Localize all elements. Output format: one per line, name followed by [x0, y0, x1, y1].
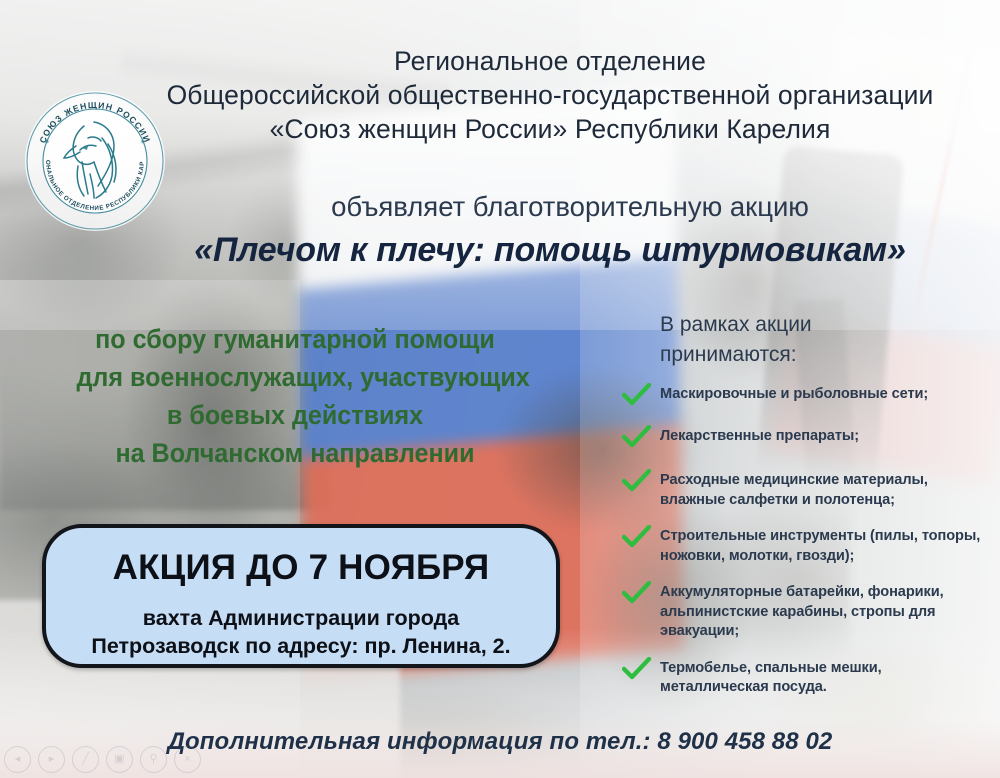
- accepted-heading-line-2: принимаются:: [660, 340, 980, 370]
- list-item-text: Строительные инструменты (пилы, топоры, …: [660, 527, 995, 566]
- list-item: Лекарственные препараты;: [620, 427, 995, 451]
- accepted-items-list: Маскировочные и рыболовные сети; Лекарст…: [620, 385, 995, 708]
- watermark-toolbar: ◂ ▸ ╱ ▣ ⚲ ×: [4, 746, 201, 773]
- search-icon: ⚲: [140, 746, 167, 773]
- check-icon: [620, 583, 660, 605]
- deadline-callout: АКЦИЯ ДО 7 НОЯБРЯ вахта Администрации го…: [42, 524, 560, 668]
- purpose-line-2: для военнослужащих, участвующих: [76, 358, 513, 396]
- header-line-1: Региональное отделение: [150, 44, 950, 78]
- accepted-heading-line-1: В рамках акции: [660, 310, 980, 340]
- list-item-line: альпинистские карабины, стропы для: [660, 603, 995, 623]
- check-icon: [620, 659, 660, 681]
- svg-text:✷: ✷: [44, 138, 50, 146]
- organization-header: Региональное отделение Общероссийской об…: [150, 44, 950, 146]
- list-item: Расходные медицинские материалы, влажные…: [620, 471, 995, 510]
- check-icon: [620, 527, 660, 549]
- soyuz-zhenshchin-rossii-emblem-icon: СОЮЗ ЖЕНЩИН РОССИИ РЕГИОНАЛЬНОЕ ОТДЕЛЕНИ…: [22, 88, 168, 234]
- dropoff-address: вахта Администрации города Петрозаводск …: [46, 604, 556, 660]
- accepted-items-heading: В рамках акции принимаются:: [660, 310, 980, 370]
- list-item-line: Маскировочные и рыболовные сети;: [660, 385, 995, 405]
- list-item-text: Лекарственные препараты;: [660, 427, 995, 447]
- list-item-text: Аккумуляторные батарейки, фонарики, альп…: [660, 583, 995, 642]
- rewind-icon: ◂: [4, 746, 31, 773]
- list-item-line: Строительные инструменты (пилы, топоры,: [660, 527, 995, 547]
- poster: СОЮЗ ЖЕНЩИН РОССИИ РЕГИОНАЛЬНОЕ ОТДЕЛЕНИ…: [0, 0, 1000, 778]
- purpose-line-3: в боевых действиях: [76, 396, 513, 434]
- purpose-line-4: на Волчанском направлении: [76, 434, 513, 472]
- list-item-text: Термобелье, спальные мешки, металлическа…: [660, 659, 995, 698]
- list-item-line: влажные салфетки и полотенца;: [660, 491, 995, 511]
- list-item-line: ножовки, молотки, гвозди);: [660, 547, 995, 567]
- pencil-icon: ╱: [72, 746, 99, 773]
- check-icon: [620, 471, 660, 493]
- list-item-line: Термобелье, спальные мешки,: [660, 659, 995, 679]
- campaign-purpose: по сбору гуманитарной помощи для военнос…: [76, 320, 513, 472]
- purpose-line-1: по сбору гуманитарной помощи: [76, 320, 513, 358]
- list-item-line: металлическая посуда.: [660, 678, 995, 698]
- play-icon: ▸: [38, 746, 65, 773]
- announcement-line: объявляет благотворительную акцию: [180, 190, 960, 224]
- check-icon: [620, 427, 660, 449]
- list-item-line: Расходные медицинские материалы,: [660, 471, 995, 491]
- list-item-line: Лекарственные препараты;: [660, 427, 995, 447]
- header-line-2: Общероссийской общественно-государственн…: [150, 78, 950, 112]
- list-item-line: эвакуации;: [660, 622, 995, 642]
- svg-text:✷: ✷: [140, 138, 146, 146]
- list-item: Строительные инструменты (пилы, топоры, …: [620, 527, 995, 566]
- list-item-text: Расходные медицинские материалы, влажные…: [660, 471, 995, 510]
- list-item: Маскировочные и рыболовные сети;: [620, 385, 995, 409]
- address-line-1: вахта Администрации города: [46, 604, 556, 632]
- check-icon: [620, 385, 660, 407]
- copy-icon: ▣: [106, 746, 133, 773]
- close-icon: ×: [174, 746, 201, 773]
- address-line-2: Петрозаводск по адресу: пр. Ленина, 2.: [46, 632, 556, 660]
- header-line-3: «Союз женщин России» Республики Карелия: [150, 112, 950, 146]
- poster-content: СОЮЗ ЖЕНЩИН РОССИИ РЕГИОНАЛЬНОЕ ОТДЕЛЕНИ…: [0, 0, 1000, 778]
- list-item: Аккумуляторные батарейки, фонарики, альп…: [620, 583, 995, 642]
- list-item-line: Аккумуляторные батарейки, фонарики,: [660, 583, 995, 603]
- list-item: Термобелье, спальные мешки, металлическа…: [620, 659, 995, 698]
- list-item-text: Маскировочные и рыболовные сети;: [660, 385, 995, 405]
- campaign-title: «Плечом к плечу: помощь штурмовикам»: [130, 228, 970, 272]
- deadline-text: АКЦИЯ ДО 7 НОЯБРЯ: [46, 548, 556, 588]
